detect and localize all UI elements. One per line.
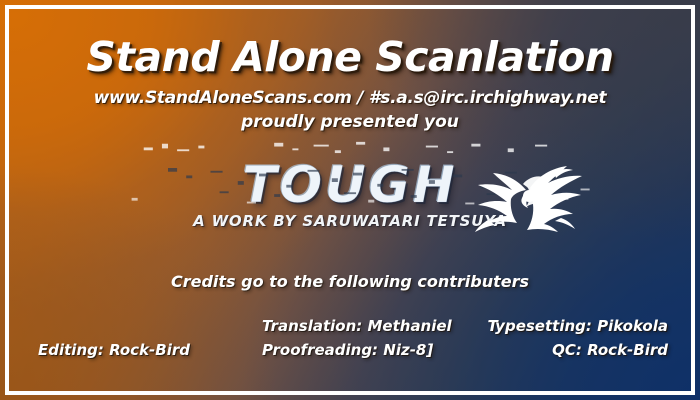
- credits-page: Stand Alone Scanlation www.StandAloneSca…: [0, 0, 700, 400]
- credits-heading: Credits go to the following contributers: [0, 272, 700, 291]
- series-logo-area: TOUGH: [0, 150, 700, 240]
- credit-qc: QC: Rock-Bird: [552, 341, 668, 359]
- credit-proofreading: Proofreading: Niz-8]: [262, 341, 433, 359]
- credit-typesetting: Typesetting: Pikokola: [487, 317, 668, 335]
- page-content: Stand Alone Scanlation www.StandAloneSca…: [0, 0, 700, 400]
- group-url-line: www.StandAloneScans.com / #s.a.s@irc.irc…: [0, 88, 700, 108]
- series-logo-text: TOUGH: [242, 156, 457, 214]
- credit-editing: Editing: Rock-Bird: [38, 341, 190, 359]
- credit-translation: Translation: Methaniel: [262, 317, 452, 335]
- presented-by-line: proudly presented you: [0, 112, 700, 132]
- series-byline: A WORK BY SARUWATARI TETSUYA: [0, 212, 700, 230]
- series-logo-wrap: TOUGH: [0, 156, 700, 214]
- group-title: Stand Alone Scanlation: [0, 33, 700, 81]
